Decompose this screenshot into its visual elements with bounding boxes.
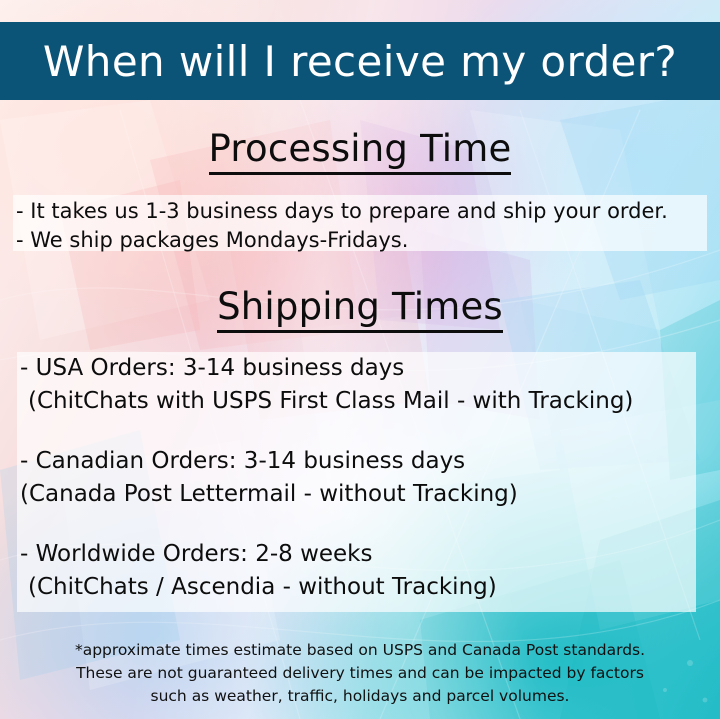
shipping-times-lines: - USA Orders: 3-14 business days (ChitCh… <box>20 352 633 604</box>
footer-line-3: such as weather, traffic, holidays and p… <box>0 685 720 708</box>
shipping-group-spacer <box>20 511 633 538</box>
processing-line-2: - We ship packages Mondays-Fridays. <box>16 226 668 255</box>
shipping-usa-primary: - USA Orders: 3-14 business days <box>20 352 633 385</box>
header-band: When will I receive my order? <box>0 22 720 100</box>
footer-disclaimer: *approximate times estimate based on USP… <box>0 639 720 708</box>
shipping-usa-secondary: (ChitChats with USPS First Class Mail - … <box>20 385 633 418</box>
shipping-canada-primary: - Canadian Orders: 3-14 business days <box>20 445 633 478</box>
faq-poster: When will I receive my order? Processing… <box>0 0 720 719</box>
shipping-group-spacer <box>20 418 633 445</box>
footer-line-1: *approximate times estimate based on USP… <box>0 639 720 662</box>
processing-time-lines: - It takes us 1-3 business days to prepa… <box>16 197 668 255</box>
page-title: When will I receive my order? <box>43 37 677 86</box>
shipping-canada-secondary: (Canada Post Lettermail - without Tracki… <box>20 478 633 511</box>
processing-time-heading-text: Processing Time <box>209 127 512 175</box>
processing-time-heading: Processing Time <box>0 127 720 170</box>
shipping-worldwide-primary: - Worldwide Orders: 2-8 weeks <box>20 538 633 571</box>
footer-line-2: These are not guaranteed delivery times … <box>0 662 720 685</box>
processing-line-1: - It takes us 1-3 business days to prepa… <box>16 197 668 226</box>
shipping-worldwide-secondary: (ChitChats / Ascendia - without Tracking… <box>20 571 633 604</box>
shipping-times-heading-text: Shipping Times <box>217 285 503 333</box>
shipping-times-heading: Shipping Times <box>0 285 720 328</box>
